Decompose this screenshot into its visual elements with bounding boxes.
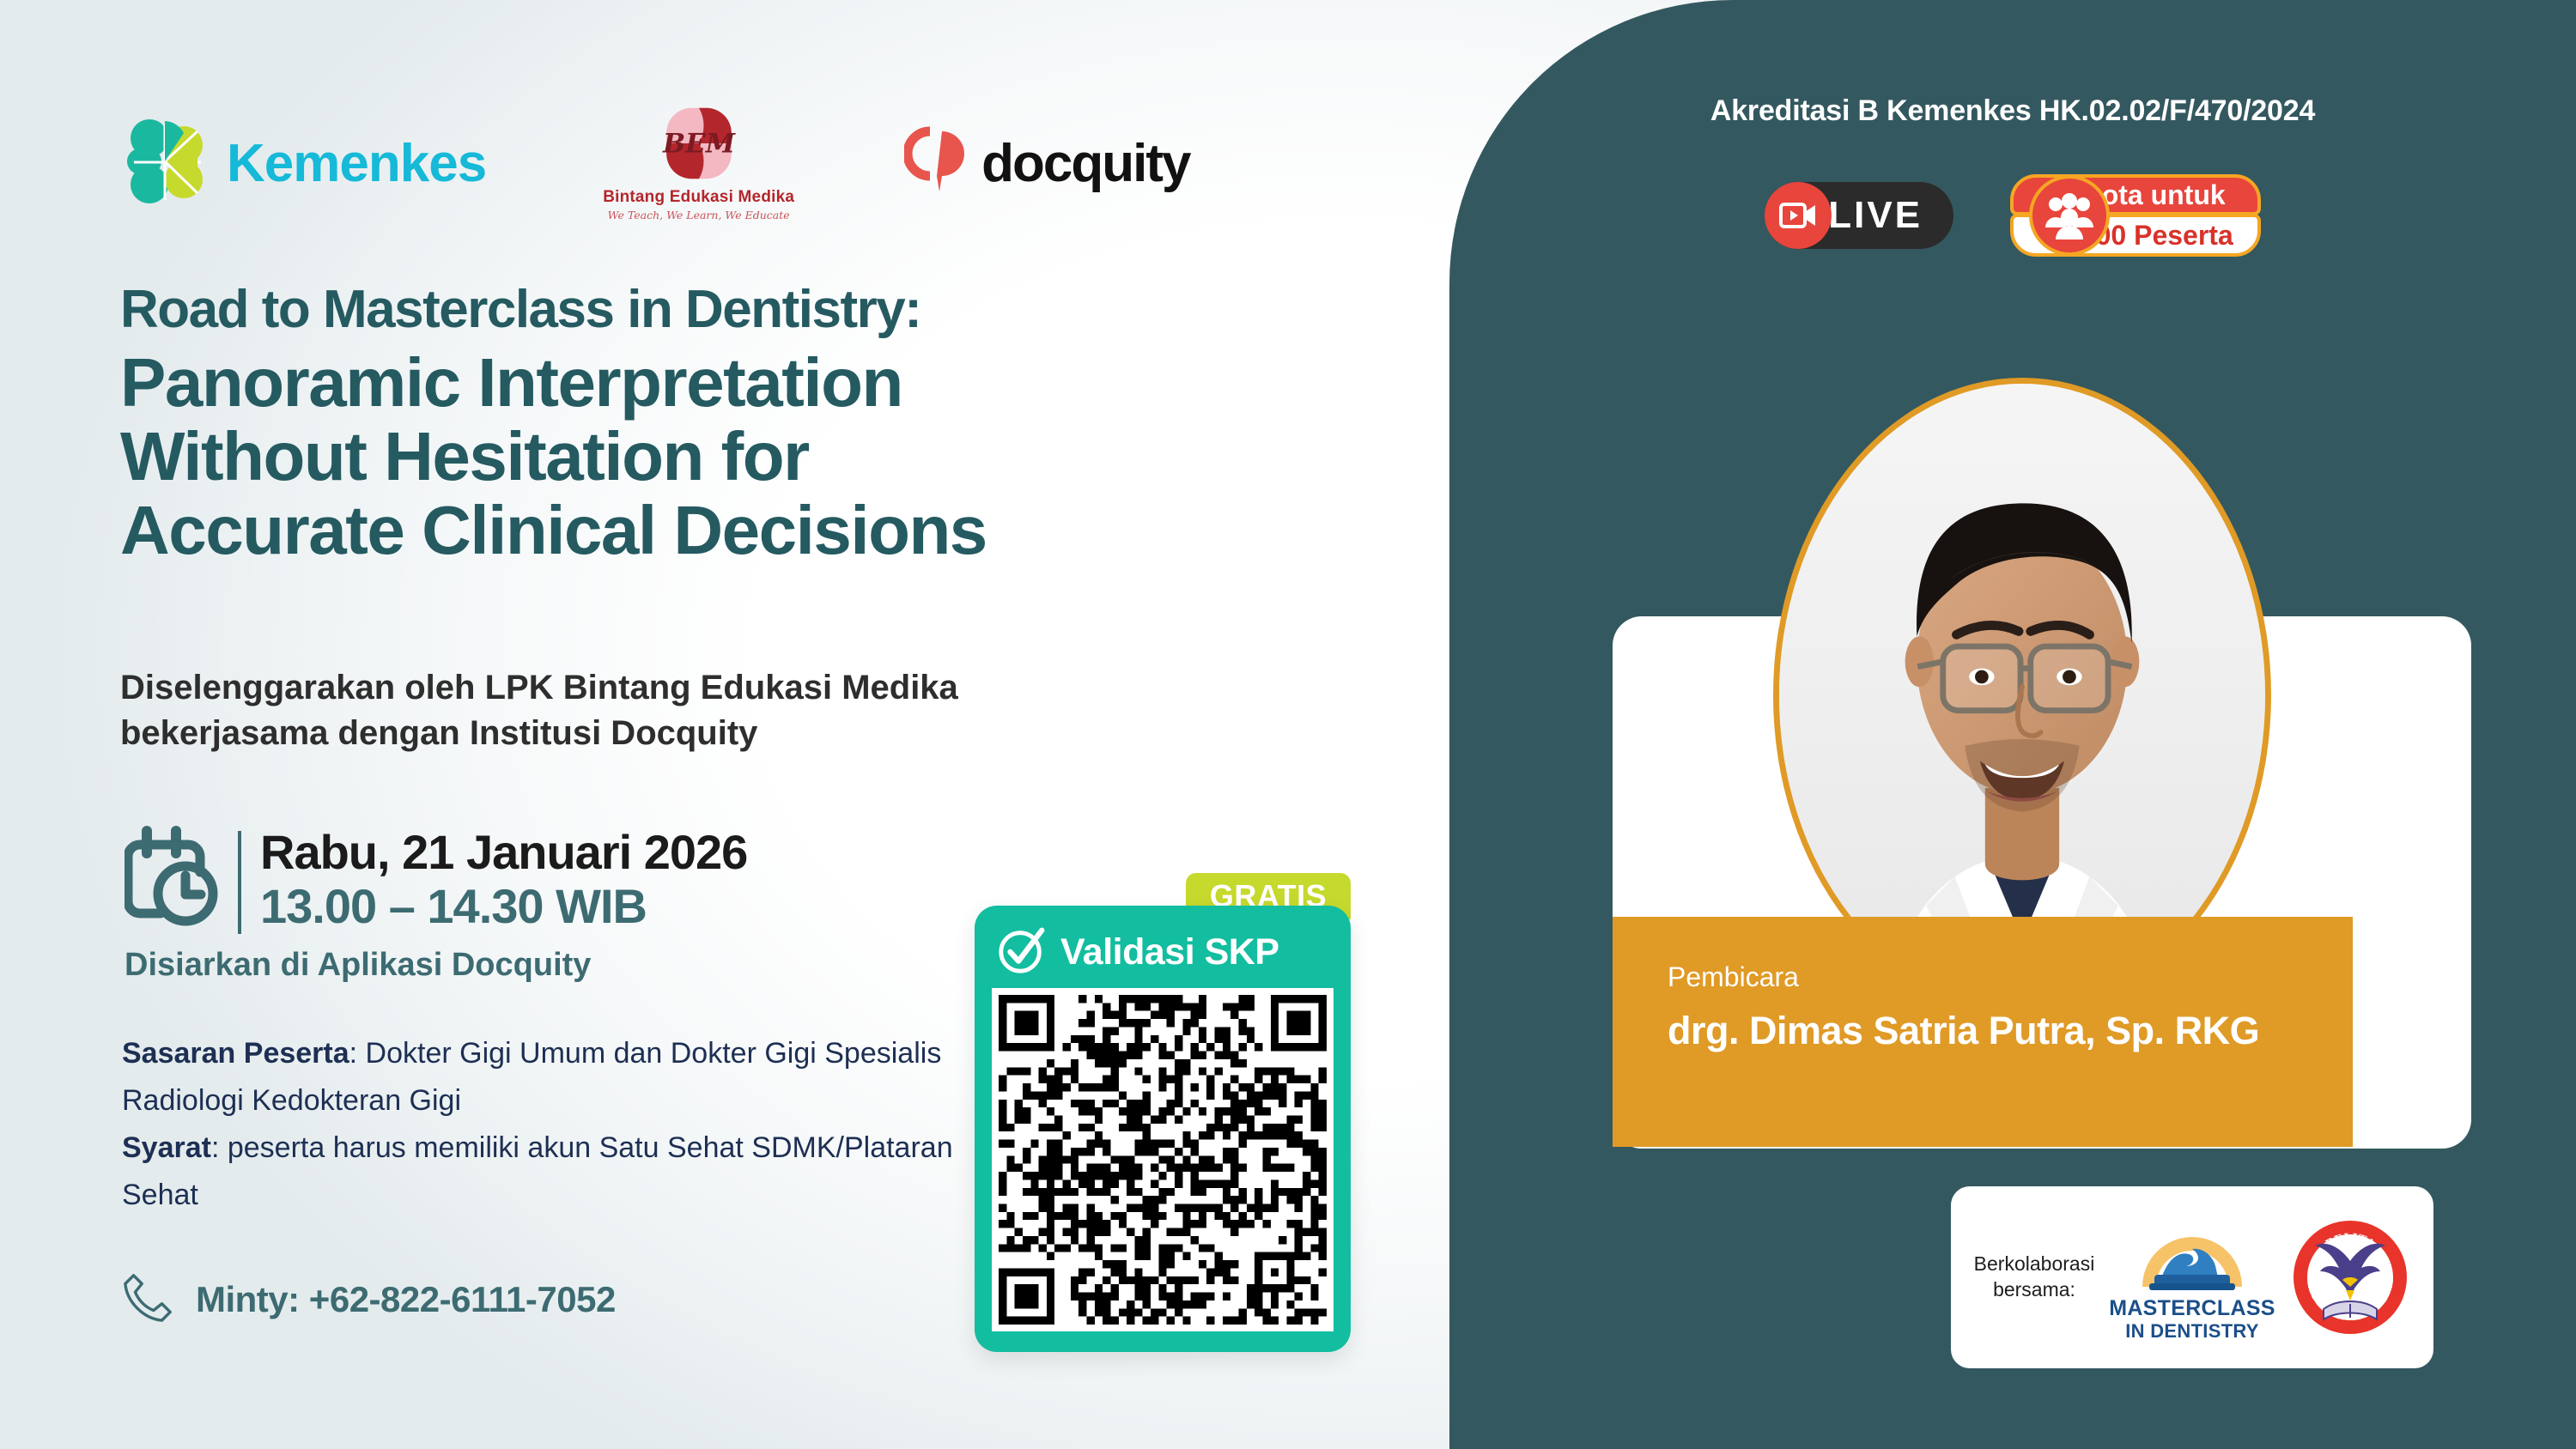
calendar-clock-icon [125, 826, 219, 931]
audience-requirement-value: : peserta harus memiliki akun Satu Sehat… [122, 1131, 953, 1211]
video-camera-icon [1765, 182, 1832, 249]
collab-label-line-2: bersama: [1993, 1278, 2075, 1300]
speaker-name-band: Pembicara drg. Dimas Satria Putra, Sp. R… [1613, 917, 2353, 1147]
title-line-4: Accurate Clinical Decisions [120, 496, 1340, 565]
audience-requirement-label: Syarat [122, 1131, 211, 1164]
schedule-divider [238, 831, 241, 934]
organizer-subtitle: Diselenggarakan oleh LPK Bintang Edukasi… [120, 665, 1322, 756]
logo-row: Kemenkes BEM Bintang Edukasi Medika We T… [122, 110, 1189, 217]
kemenkes-wordmark: Kemenkes [227, 137, 486, 191]
kemenkes-logo: Kemenkes [122, 114, 486, 213]
qr-code-icon[interactable] [992, 988, 1334, 1331]
masterclass-sunrise-hands-icon [2136, 1213, 2249, 1296]
docquity-logo: docquity [904, 126, 1189, 201]
bem-mark-icon: BEM [662, 106, 736, 185]
organizer-line-1: Diselenggarakan oleh LPK Bintang Edukasi… [120, 665, 1322, 711]
docquity-speech-bubble-icon [904, 126, 968, 201]
live-badge: LIVE [1765, 182, 1953, 249]
collab-label-line-1: Berkolaborasi [1974, 1252, 2095, 1275]
webinar-poster: Kemenkes BEM Bintang Edukasi Medika We T… [0, 0, 2576, 1449]
event-date: Rabu, 21 Januari 2026 [260, 826, 747, 880]
audience-requirements: Sasaran Peserta: Dokter Gigi Umum dan Do… [122, 1030, 1032, 1219]
qr-card-header: Validasi SKP [992, 919, 1334, 985]
page-title: Road to Masterclass in Dentistry: Panora… [120, 283, 1340, 570]
collaboration-card: Berkolaborasi bersama: MASTERCLASS IN DE… [1951, 1186, 2433, 1368]
accreditation-text: Akreditasi B Kemenkes HK.02.02/F/470/202… [1449, 94, 2576, 128]
title-line-1: Road to Masterclass in Dentistry: [120, 283, 1340, 336]
universitas-pelita-harapan-logo: PELITA HARAPAN UNIVERSITAS [2289, 1216, 2411, 1338]
svg-text:BEM: BEM [662, 128, 736, 159]
check-circle-icon [995, 924, 1048, 981]
contact-block[interactable]: Minty: +62-822-6111-7052 [122, 1270, 616, 1328]
masterclass-in-dentistry-logo: MASTERCLASS IN DENTISTRY [2111, 1213, 2274, 1343]
kemenkes-pinwheel-icon [122, 114, 215, 213]
badge-row: LIVE Kuota untuk 1000 Peserta [1449, 179, 2576, 252]
broadcast-platform: Disiarkan di Aplikasi Docquity [125, 947, 591, 984]
bem-tagline: We Teach, We Learn, We Educate [608, 209, 790, 221]
bem-name: Bintang Edukasi Medika [603, 188, 794, 207]
qr-card-label: Validasi SKP [1060, 931, 1279, 973]
people-group-icon [2029, 175, 2110, 256]
validation-qr-card[interactable]: Validasi SKP [975, 906, 1351, 1352]
event-time: 13.00 – 14.30 WIB [260, 880, 747, 934]
organizer-line-2: bekerjasama dengan Institusi Docquity [120, 711, 1322, 756]
title-line-2: Panoramic Interpretation [120, 349, 1340, 417]
title-line-3: Without Hesitation for [120, 422, 1340, 491]
collaboration-label: Berkolaborasi bersama: [1973, 1252, 2095, 1303]
contact-phone: Minty: +62-822-6111-7052 [196, 1279, 616, 1320]
masterclass-title: MASTERCLASS [2109, 1296, 2275, 1320]
speaker-role-label: Pembicara [1668, 961, 2259, 993]
phone-icon [122, 1270, 175, 1328]
masterclass-subtitle: IN DENTISTRY [2125, 1320, 2259, 1343]
speaker-name: drg. Dimas Satria Putra, Sp. RKG [1668, 1009, 2259, 1053]
quota-badge: Kuota untuk 1000 Peserta [2029, 179, 2261, 252]
docquity-wordmark: docquity [981, 137, 1189, 191]
audience-target-label: Sasaran Peserta [122, 1037, 349, 1070]
schedule-block: Rabu, 21 Januari 2026 13.00 – 14.30 WIB [125, 826, 747, 934]
bem-logo: BEM Bintang Edukasi Medika We Teach, We … [603, 106, 794, 221]
